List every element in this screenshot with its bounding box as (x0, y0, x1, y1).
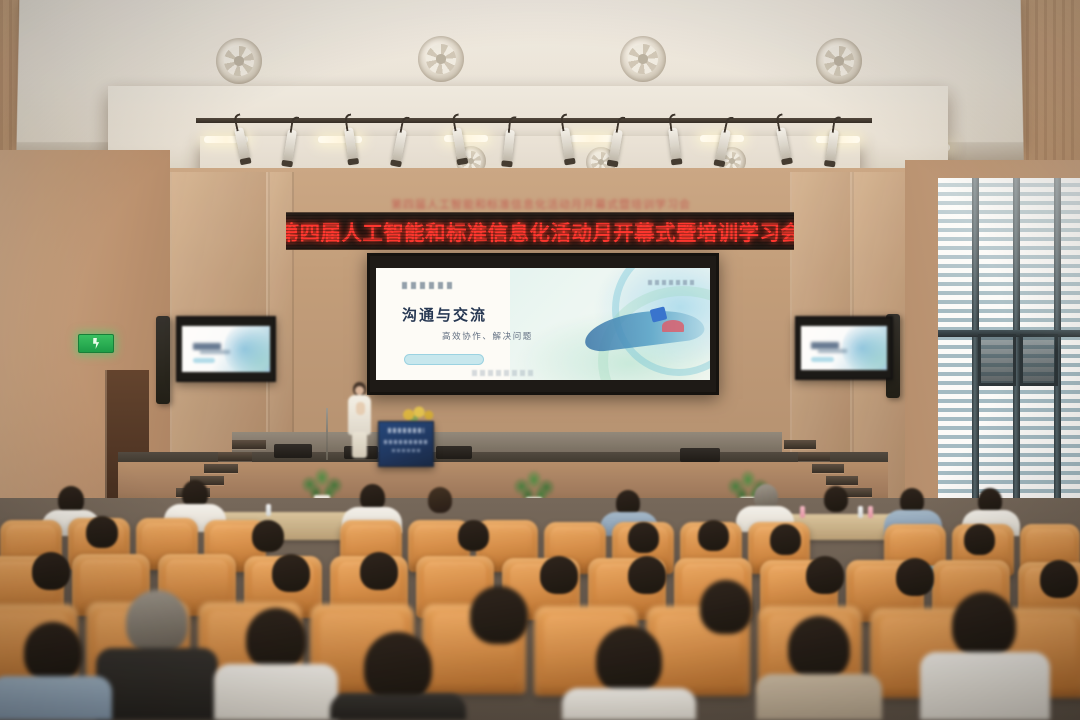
presenter-legs (352, 432, 367, 458)
audience-head (1040, 560, 1078, 598)
slide-photo-accent (662, 320, 684, 332)
audience-shoulders (214, 664, 338, 720)
audience-head (86, 516, 118, 548)
audience-head (428, 487, 452, 513)
stage-step (826, 476, 858, 485)
audience-head (364, 632, 432, 702)
right-monitor-screen (801, 326, 887, 370)
monitor-slide-title (193, 343, 221, 350)
stage-step (204, 464, 238, 473)
ceiling-light (318, 136, 362, 143)
ceiling-light (570, 135, 614, 142)
monitor-slide-subtitle (200, 350, 230, 354)
slide-subtitle: 高效协作、解决问题 (442, 330, 533, 342)
audience-head (360, 552, 398, 590)
podium-text-line (392, 449, 420, 452)
audience-shoulders (562, 688, 696, 720)
audience-head (628, 556, 666, 594)
slide-title: 沟通与交流 (402, 304, 487, 325)
projection-screen: 沟通与交流 高效协作、解决问题 (376, 268, 710, 380)
air-diffuser (216, 38, 262, 84)
podium-flowers (396, 404, 438, 422)
air-diffuser (816, 38, 862, 84)
water-bottle (266, 504, 271, 516)
window-awning-vent[interactable] (1020, 334, 1058, 386)
slide-tag-pill (404, 354, 484, 365)
exit-sign-icon (78, 334, 114, 353)
slide-watermark (472, 370, 536, 376)
left-monitor-screen (182, 326, 270, 372)
stage-floor-monitor (436, 446, 472, 459)
banner-reflection: 第四届人工智能和标准信息化活动月开幕式暨培训学习会 (288, 196, 794, 210)
audience-head (824, 486, 848, 512)
slide-corner-text (648, 280, 694, 285)
wall-speaker (156, 316, 170, 404)
audience-head (272, 554, 310, 592)
audience-head (700, 580, 752, 634)
running-person-icon (92, 338, 101, 349)
audience-head (540, 556, 578, 594)
audience-head (470, 586, 528, 644)
audience-head (952, 592, 1016, 658)
audience-shoulders (330, 694, 466, 720)
microphone-stand (326, 408, 328, 460)
audience-head (788, 616, 850, 680)
stage-step (784, 440, 816, 449)
audience-head (458, 520, 489, 551)
stage-step (218, 452, 252, 461)
audience-shoulders (96, 648, 218, 720)
audience-head (806, 556, 844, 594)
monitor-slide-art (842, 326, 887, 370)
right-side-monitor (795, 316, 893, 380)
audience-shoulders (756, 674, 882, 720)
audience-head (628, 522, 659, 553)
air-diffuser (620, 36, 666, 82)
audience-head (126, 590, 188, 654)
audience-shoulders (0, 676, 112, 720)
plant-leaves (300, 468, 344, 498)
monitor-slide-pill (193, 358, 216, 363)
audience-head (770, 524, 801, 555)
audience-head (24, 622, 82, 682)
monitor-slide-pill (811, 357, 833, 362)
monitor-slide-subtitle (818, 349, 847, 353)
audience-head (246, 608, 306, 670)
window-awning-vent[interactable] (978, 334, 1016, 386)
presenter-torso (348, 395, 371, 435)
led-banner: 第四届人工智能和标准信息化活动月开幕式暨培训学习会 (286, 212, 794, 250)
monitor-slide-art (224, 326, 270, 372)
stage-floor-monitor (680, 448, 720, 462)
monitor-slide-title (811, 342, 839, 349)
presenter (344, 382, 374, 458)
audience-head (252, 520, 284, 552)
stage-step (812, 464, 844, 473)
presenter-face (355, 386, 364, 395)
left-side-monitor (176, 316, 276, 382)
stage-step (232, 440, 266, 449)
presenter-arm (356, 402, 365, 415)
stage-step (798, 452, 830, 461)
air-diffuser (418, 36, 464, 82)
ceiling-light (444, 135, 488, 142)
conference-hall-photo: 第四届人工智能和标准信息化活动月开幕式暨培训学习会 第四届人工智能和标准信息化活… (0, 0, 1080, 720)
window-pane (938, 178, 972, 530)
podium-text-line (384, 440, 428, 444)
led-banner-text: 第四届人工智能和标准信息化活动月开幕式暨培训学习会 (286, 216, 794, 246)
water-bottle (858, 506, 863, 518)
water-bottle (868, 506, 873, 518)
projection-screen-frame: 沟通与交流 高效协作、解决问题 (367, 253, 719, 395)
stage-floor-monitor (274, 444, 312, 458)
speaker-podium (378, 421, 434, 467)
audience-head (896, 558, 934, 596)
window-wall (938, 178, 1080, 530)
podium-text-line (388, 428, 424, 433)
window-pane (1061, 178, 1080, 530)
plant-leaves (512, 470, 556, 500)
audience-head (698, 520, 729, 551)
water-bottle (800, 506, 805, 518)
audience-head (964, 524, 995, 555)
audience-shoulders (920, 652, 1050, 720)
audience-head (596, 626, 662, 694)
slide-logo (402, 282, 456, 289)
audience-head (32, 552, 70, 590)
